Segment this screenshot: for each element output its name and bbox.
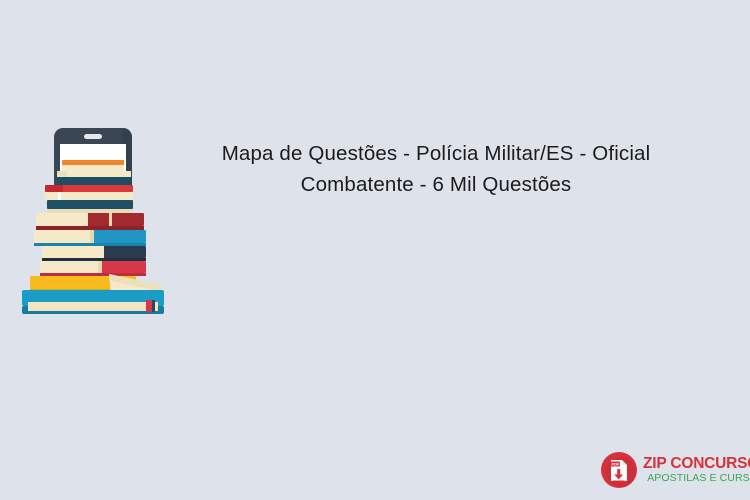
page-title-line-1: Mapa de Questões - Polícia Militar/ES - … [180, 138, 692, 169]
pdf-download-icon: PDF [600, 451, 638, 489]
page-canvas: Mapa de Questões - Polícia Militar/ES - … [0, 0, 750, 500]
book-red-upper [45, 185, 133, 200]
book-blue-mid [34, 230, 146, 246]
book-teal-mid [47, 200, 133, 213]
book-navy-lower [42, 246, 146, 261]
book-darkred-mid [36, 213, 144, 230]
brand-logo[interactable]: PDF ZIP CONCURSOS APOSTILAS E CURSOS [600, 450, 740, 490]
book-crimson-lower [40, 261, 146, 276]
stack-of-books-with-smartphone-illustration [14, 124, 172, 316]
brand-name: ZIP CONCURSOS [643, 455, 750, 472]
brand-logo-text: ZIP CONCURSOS APOSTILAS E CURSOS [643, 455, 750, 485]
page-title: Mapa de Questões - Polícia Militar/ES - … [180, 138, 692, 200]
svg-text:PDF: PDF [612, 462, 621, 467]
brand-tagline: APOSTILAS E CURSOS [643, 472, 750, 485]
book-navy-upper [57, 171, 131, 185]
book-bottom-teal [22, 290, 164, 314]
page-title-line-2: Combatente - 6 Mil Questões [180, 169, 692, 200]
